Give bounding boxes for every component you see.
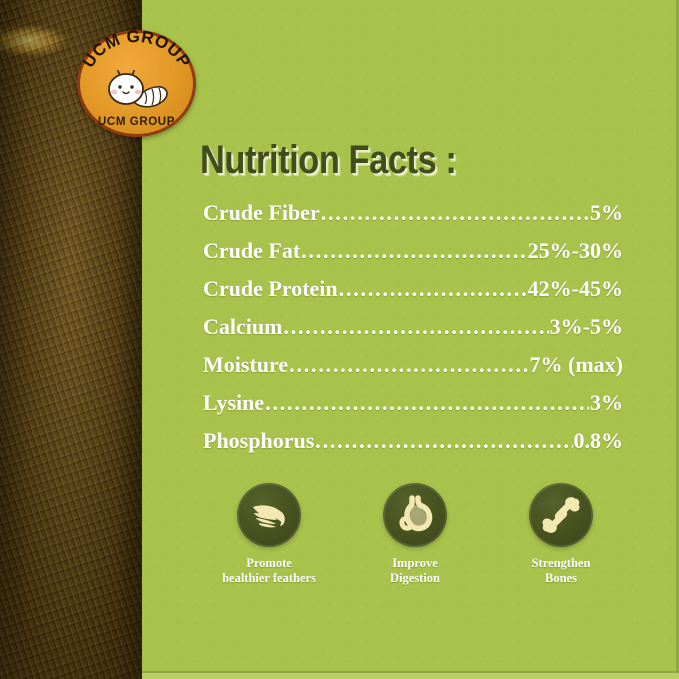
fact-dot-leader: ........................................… [283,316,548,338]
fact-dot-leader: ........................................… [301,240,527,262]
fact-row: Crude Fiber ............................… [203,200,623,238]
fact-label: Lysine [203,390,264,416]
benefits-row: Promote healthier feathers Improve Diges… [196,483,634,587]
nutrition-facts-list: Crude Fiber ............................… [203,200,623,466]
fact-label: Calcium [203,314,282,340]
fact-label: Crude Fat [203,238,300,264]
fact-value: 7% (max) [530,352,623,378]
fact-value: 5% [590,200,623,226]
fact-label: Moisture [203,352,288,378]
fact-dot-leader: ........................................… [289,354,528,376]
benefit-caption-line1: Improve [390,556,440,571]
benefit-caption-line1: Promote [222,556,316,571]
fact-dot-leader: ........................................… [321,202,589,224]
benefit-item-bones: Strengthen Bones [488,483,634,587]
fact-dot-leader: ........................................… [265,392,589,414]
fact-label: Crude Protein [203,276,338,302]
fact-row: Calcium ................................… [203,314,623,352]
benefit-icon-circle [529,483,593,547]
benefit-caption: Promote healthier feathers [222,556,316,587]
fact-row: Phosphorus .............................… [203,428,623,466]
bottom-border-line [142,671,679,673]
fact-dot-leader: ........................................… [315,430,572,452]
bone-joint-icon [539,493,583,537]
fact-dot-leader: ........................................… [339,278,527,300]
fact-label: Crude Fiber [203,200,320,226]
fact-value: 0.8% [574,428,624,454]
fact-row: Crude Fat ..............................… [203,238,623,276]
fact-value: 25%-30% [528,238,623,264]
fact-value: 3%-5% [550,314,623,340]
fact-label: Phosphorus [203,428,314,454]
fact-value: 3% [590,390,623,416]
benefit-item-digestion: Improve Digestion [342,483,488,587]
benefit-icon-circle [383,483,447,547]
benefit-item-feathers: Promote healthier feathers [196,483,342,587]
benefit-caption: Strengthen Bones [532,556,591,587]
benefit-caption-line1: Strengthen [532,556,591,571]
benefit-caption-line2: healthier feathers [222,571,316,586]
benefit-caption-line2: Bones [532,571,591,586]
benefit-caption-line2: Digestion [390,571,440,586]
fact-value: 42%-45% [528,276,623,302]
feather-wing-icon [247,493,291,537]
bottom-light-strip [142,673,679,679]
logo-bottom-label: UCM GROUP [77,116,196,128]
mealworm-mascot-icon [105,63,171,111]
fact-row: Lysine .................................… [203,390,623,428]
fact-row: Moisture ...............................… [203,352,623,390]
page-title: Nutrition Facts : [200,140,456,180]
brand-logo: UCM GROUP UCM GROUP [77,30,199,137]
nutrition-facts-poster: UCM GROUP UCM GROUP Nutrition Facts : Cr… [0,0,679,679]
benefit-caption: Improve Digestion [390,556,440,587]
stomach-icon [394,494,436,536]
fact-row: Crude Protein ..........................… [203,276,623,314]
benefit-icon-circle [237,483,301,547]
